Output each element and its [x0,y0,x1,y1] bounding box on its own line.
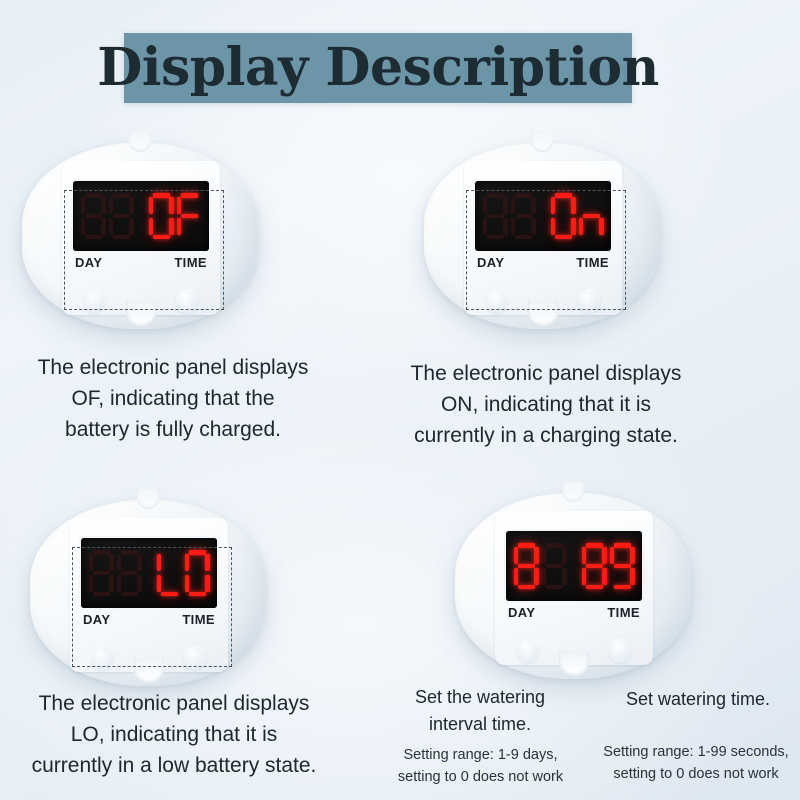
caption-of: The electronic panel displays OF, indica… [8,352,338,445]
led-segment-b [571,197,576,214]
led-segment-c [630,568,635,585]
caption-lo: The electronic panel displays LO, indica… [2,688,346,781]
caption-duration-line1: Set watering time. [600,686,796,713]
led-digit [89,550,114,596]
led-segment-d [586,585,603,590]
time-button[interactable] [609,639,631,663]
led-segment-g [546,564,563,569]
page-title: Display Description [97,42,659,94]
led-segment-d [555,235,572,240]
caption-on-line2: ON, indicating that it is [378,389,714,420]
caption-on-line3: currently in a charging state. [378,420,714,451]
led-segment-b [602,547,607,564]
led-segment-f [149,197,154,214]
led-screen [506,531,642,601]
led-segment-f [185,554,190,571]
led-segment-f [109,197,114,214]
led-digit [157,550,182,596]
led-screen [81,538,217,608]
led-segment-e [551,218,556,235]
caption-on-line1: The electronic panel displays [378,358,714,389]
led-segment-f [81,197,86,214]
led-segment-a [515,193,532,198]
led-segment-a [555,193,572,198]
led-digit [582,543,607,589]
day-button[interactable] [84,289,106,313]
top-notch [531,132,553,152]
time-button[interactable] [176,289,198,313]
led-digit [551,193,576,239]
screen-labels: DAY TIME [473,255,613,270]
led-segment-c [129,218,134,235]
led-segment-e [157,575,162,592]
led-segment-g [586,564,603,569]
time-label: TIME [174,255,207,270]
led-segment-b [503,197,508,214]
led-segment-e [483,218,488,235]
led-segment-e [109,218,114,235]
led-segment-e [89,575,94,592]
front-plate: DAY TIME [464,161,622,315]
caption-duration-note2: setting to 0 does not work [594,763,798,785]
top-notch [562,482,584,502]
led-segment-f [483,197,488,214]
bottom-notch [134,658,164,684]
caption-duration: Set watering time. [600,686,796,713]
led-segment-d [515,235,532,240]
bottom-notch [559,651,589,677]
led-digit [542,543,567,589]
led-digit [483,193,508,239]
led-segment-g [121,571,138,576]
led-segment-b [169,197,174,214]
led-segment-a [518,543,535,548]
caption-of-line2: OF, indicating that the [8,383,338,414]
front-plate: DAY TIME [62,161,220,315]
day-label: DAY [477,255,504,270]
led-segment-a [546,543,563,548]
led-segment-g [181,214,198,219]
led-segment-g [487,214,504,219]
led-segment-e [149,218,154,235]
led-digit [185,550,210,596]
led-segment-g [113,214,130,219]
day-button[interactable] [486,289,508,313]
screen-labels: DAY TIME [79,612,219,627]
led-segment-b [531,197,536,214]
led-segment-e [579,218,584,235]
top-notch [137,489,159,509]
led-segment-c [562,568,567,585]
led-segment-c [534,568,539,585]
caption-of-line1: The electronic panel displays [8,352,338,383]
caption-interval-note: Setting range: 1-9 days, setting to 0 do… [358,744,603,788]
led-digit [177,193,202,239]
caption-lo-line1: The electronic panel displays [2,688,346,719]
led-segment-g [515,214,532,219]
led-segment-a [487,193,504,198]
led-segment-e [81,218,86,235]
device-body: DAY TIME [424,143,660,329]
led-segment-b [630,547,635,564]
led-digit [81,193,106,239]
screen-labels: DAY TIME [71,255,211,270]
led-segment-d [85,235,102,240]
bottom-notch [126,301,156,327]
led-segment-c [101,218,106,235]
led-segment-d [189,592,206,597]
led-segment-d [487,235,504,240]
led-segment-b [137,554,142,571]
led-segment-e [177,218,182,235]
led-segment-a [93,550,110,555]
day-button[interactable] [92,646,114,670]
caption-interval-line2: interval time. [365,711,595,738]
led-segment-a [181,193,198,198]
front-plate: DAY TIME [70,518,228,672]
led-segment-f [542,547,547,564]
time-label: TIME [182,612,215,627]
device-body: DAY TIME [30,500,266,686]
led-segment-e [514,568,519,585]
led-segment-d [161,592,178,597]
led-segment-a [153,193,170,198]
led-digit [610,543,635,589]
led-segment-g [93,571,110,576]
led-segment-e [542,568,547,585]
led-segment-c [599,218,604,235]
led-segment-g [614,564,631,569]
time-button[interactable] [578,289,600,313]
caption-interval-line1: Set the watering [365,684,595,711]
led-segment-f [157,554,162,571]
led-segment-b [129,197,134,214]
caption-of-line3: battery is fully charged. [8,414,338,445]
device-body: DAY TIME [455,493,691,679]
led-segment-g [583,214,600,219]
day-button[interactable] [517,639,539,663]
led-segment-f [177,197,182,214]
led-segment-b [109,554,114,571]
day-label: DAY [75,255,102,270]
display-description-page: Display Description DAY TIME [0,0,800,800]
caption-interval: Set the watering interval time. [365,684,595,738]
led-digit [579,193,604,239]
led-segment-d [614,585,631,590]
led-segment-f [89,554,94,571]
led-segment-g [518,564,535,569]
time-button[interactable] [184,646,206,670]
led-segment-d [121,592,138,597]
caption-interval-note2: setting to 0 does not work [358,766,603,788]
led-segment-b [562,547,567,564]
led-segment-e [582,568,587,585]
led-segment-a [85,193,102,198]
led-segment-e [511,218,516,235]
led-screen [73,181,209,251]
bottom-notch [528,301,558,327]
led-segment-c [531,218,536,235]
led-screen [475,181,611,251]
led-segment-c [205,575,210,592]
day-label: DAY [83,612,110,627]
led-segment-d [546,585,563,590]
device-body: DAY TIME [22,143,258,329]
led-segment-d [153,235,170,240]
led-digits [89,550,210,596]
caption-on: The electronic panel displays ON, indica… [378,358,714,451]
led-segment-f [551,197,556,214]
led-segment-f [514,547,519,564]
led-digits [514,543,635,589]
led-segment-d [93,592,110,597]
caption-duration-note1: Setting range: 1-99 seconds, [594,741,798,763]
led-segment-c [571,218,576,235]
page-title-banner: Display Description [124,33,632,103]
led-segment-c [503,218,508,235]
led-segment-c [169,218,174,235]
day-label: DAY [508,605,535,620]
led-segment-b [205,554,210,571]
led-segment-e [117,575,122,592]
caption-lo-line3: currently in a low battery state. [2,750,346,781]
led-segment-f [610,547,615,564]
caption-duration-note: Setting range: 1-99 seconds, setting to … [594,741,798,785]
time-label: TIME [576,255,609,270]
led-segment-f [511,197,516,214]
led-digit [109,193,134,239]
led-digit [149,193,174,239]
screen-labels: DAY TIME [504,605,644,620]
led-digits [81,193,202,239]
led-segment-f [117,554,122,571]
led-segment-a [586,543,603,548]
caption-interval-note1: Setting range: 1-9 days, [358,744,603,766]
led-segment-d [113,235,130,240]
led-digit [514,543,539,589]
led-segment-b [534,547,539,564]
led-segment-b [101,197,106,214]
led-segment-e [185,575,190,592]
led-segment-f [582,547,587,564]
led-segment-a [614,543,631,548]
caption-lo-line2: LO, indicating that it is [2,719,346,750]
led-segment-a [113,193,130,198]
led-digit [117,550,142,596]
led-segment-a [121,550,138,555]
led-segment-g [85,214,102,219]
led-segment-c [109,575,114,592]
front-plate: DAY TIME [495,511,653,665]
led-segment-d [518,585,535,590]
led-segment-a [189,550,206,555]
time-label: TIME [607,605,640,620]
led-digit [511,193,536,239]
led-segment-c [137,575,142,592]
top-notch [129,132,151,152]
led-digits [483,193,604,239]
led-segment-c [602,568,607,585]
